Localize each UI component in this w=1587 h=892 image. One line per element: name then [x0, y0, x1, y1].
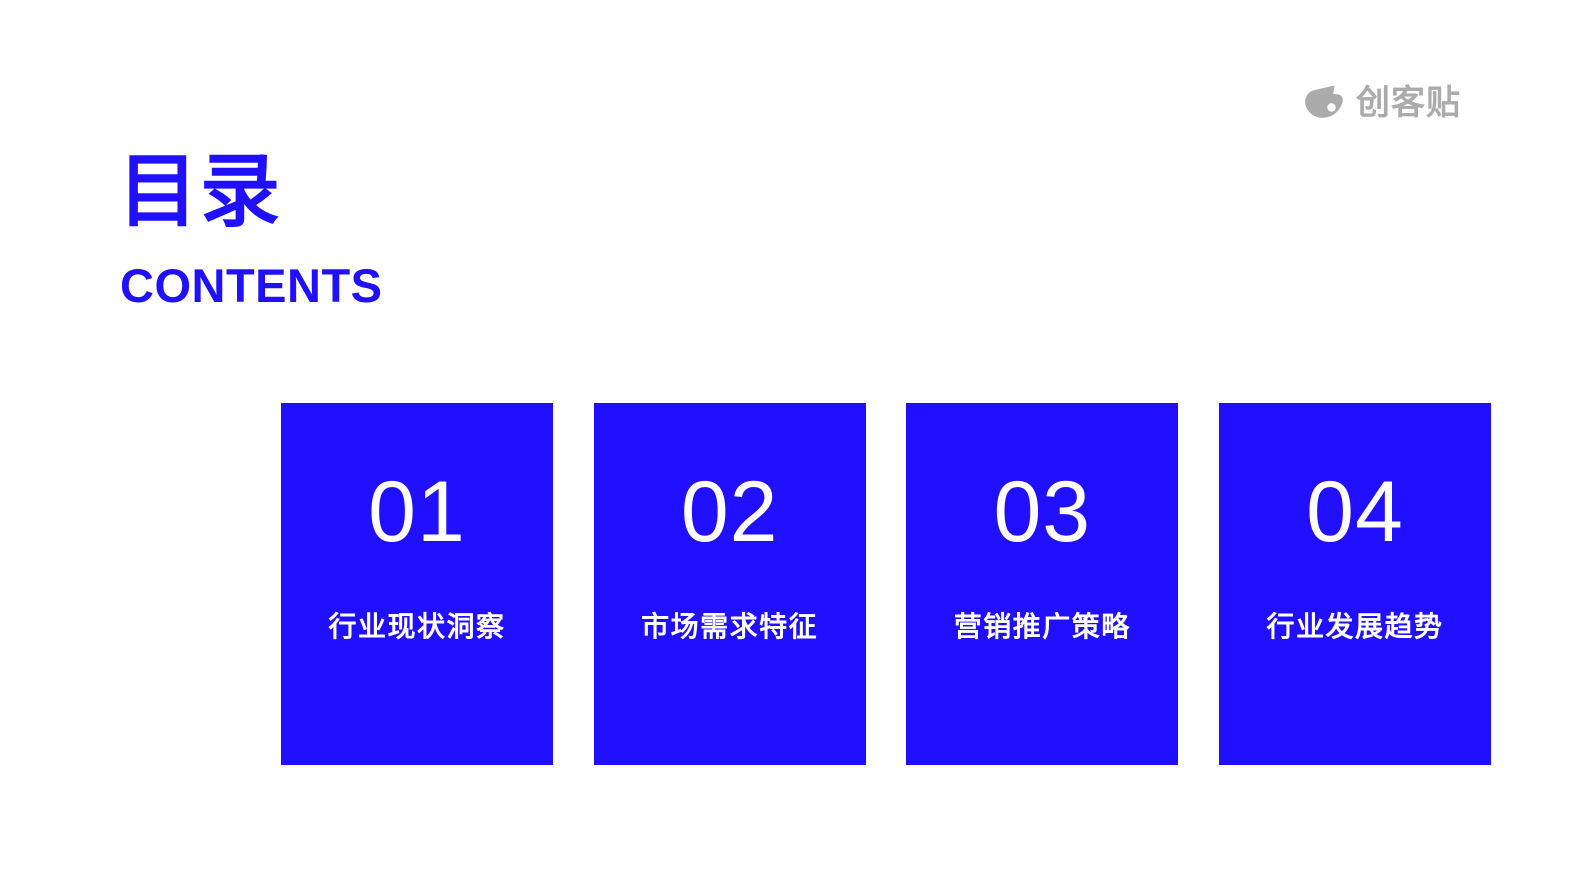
card-number: 03 — [993, 469, 1091, 555]
card-label: 市场需求特征 — [641, 613, 818, 641]
brand-logo: 创客贴 — [1300, 76, 1480, 130]
contents-card-03[interactable]: 03 营销推广策略 — [906, 403, 1178, 765]
heading-block: 目录 CONTENTS — [118, 150, 818, 309]
contents-card-01[interactable]: 01 行业现状洞察 — [281, 403, 553, 765]
page-title: 目录 — [118, 150, 818, 234]
contents-card-04[interactable]: 04 行业发展趋势 — [1219, 403, 1491, 765]
page-subtitle: CONTENTS — [120, 262, 818, 309]
card-label: 行业现状洞察 — [328, 613, 505, 641]
chuangkit-logo-icon — [1300, 80, 1346, 126]
brand-name: 创客贴 — [1356, 86, 1461, 120]
card-number: 01 — [368, 469, 466, 555]
card-label: 营销推广策略 — [954, 613, 1131, 641]
contents-slide: 创客贴 目录 CONTENTS 01 行业现状洞察 02 市场需求特征 03 营… — [0, 0, 1587, 892]
card-number: 02 — [681, 469, 779, 555]
contents-card-list: 01 行业现状洞察 02 市场需求特征 03 营销推广策略 04 行业发展趋势 — [281, 403, 1491, 765]
card-label: 行业发展趋势 — [1266, 613, 1443, 641]
contents-card-02[interactable]: 02 市场需求特征 — [594, 403, 866, 765]
card-number: 04 — [1306, 469, 1404, 555]
